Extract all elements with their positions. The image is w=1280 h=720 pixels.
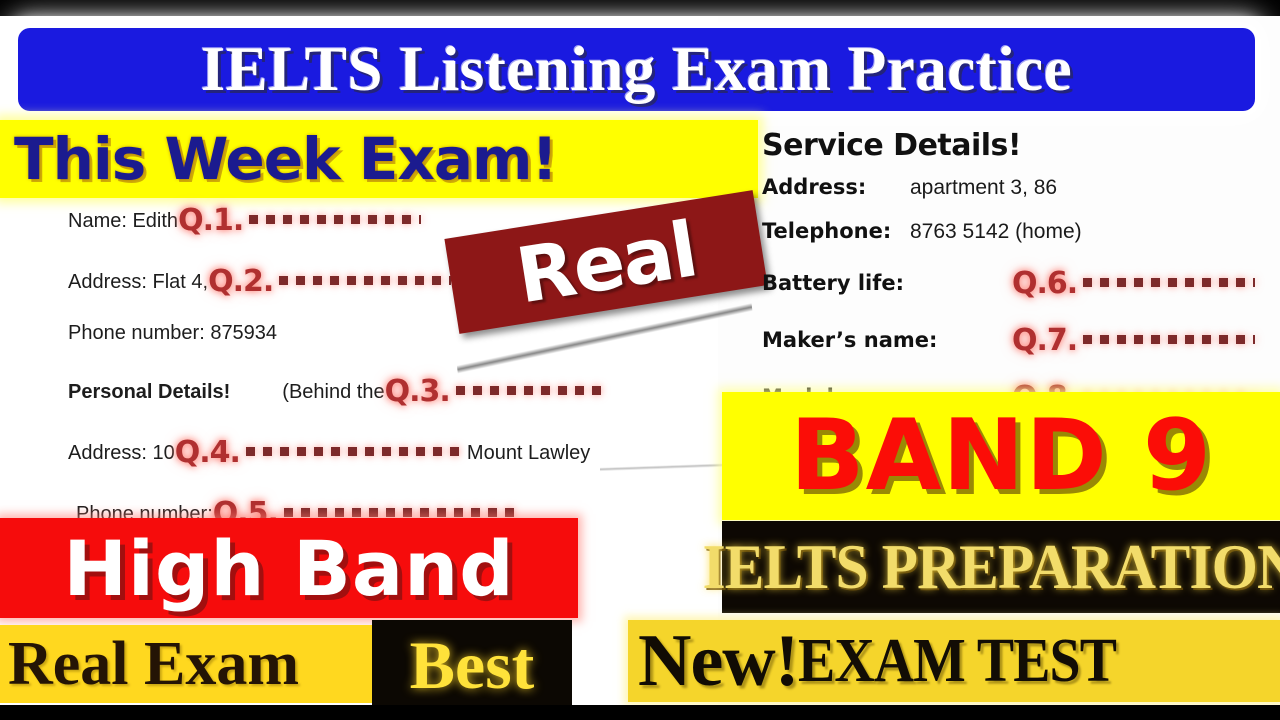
form-label-behind-the: (Behind the bbox=[282, 381, 384, 404]
form-row-phone-1: Phone number: 875934 bbox=[68, 322, 668, 345]
question-tag-q2: Q.2. bbox=[208, 264, 273, 299]
service-row-battery-life: Battery life: Q.6. bbox=[762, 263, 1272, 298]
service-value-address: apartment 3, 86 bbox=[910, 176, 1057, 200]
service-key-telephone: Telephone: bbox=[762, 219, 910, 243]
thumbnail-canvas: IELTS Listening Exam Practice This Week … bbox=[0, 0, 1280, 720]
top-letterbox-strip bbox=[0, 0, 1280, 16]
ielts-preparation-banner: IELTS PREPARATION bbox=[722, 521, 1280, 613]
real-exam-banner: Real Exam bbox=[0, 625, 372, 703]
form-row-personal-details: Personal Details! (Behind the Q.3. bbox=[68, 371, 668, 406]
answer-dotted-line-q5 bbox=[284, 508, 516, 517]
answer-dotted-line-q1 bbox=[249, 215, 421, 224]
service-key-address: Address: bbox=[762, 175, 910, 199]
real-exam-label: Real Exam bbox=[0, 629, 299, 700]
service-key-makers-name: Maker’s name: bbox=[762, 328, 1012, 352]
form-heading-personal-details: Personal Details! bbox=[68, 381, 230, 404]
service-key-battery-life: Battery life: bbox=[762, 271, 1012, 295]
form-label-phone-1: Phone number: 875934 bbox=[68, 322, 277, 345]
service-row-makers-name: Maker’s name: Q.7. bbox=[762, 320, 1272, 355]
answer-dotted-line-q4 bbox=[246, 447, 461, 456]
answer-dotted-line-q7 bbox=[1083, 335, 1255, 344]
page-title: IELTS Listening Exam Practice bbox=[201, 33, 1072, 106]
service-row-address: Address: apartment 3, 86 bbox=[762, 175, 1272, 200]
service-value-telephone: 8763 5142 (home) bbox=[910, 220, 1082, 244]
form-label-name: Name: Edith bbox=[68, 210, 178, 233]
best-label: Best bbox=[410, 626, 535, 705]
new-exam-test-banner: New! EXAM TEST bbox=[628, 620, 1280, 702]
question-tag-q4: Q.4. bbox=[175, 435, 240, 470]
right-form-block: Service Details! Address: apartment 3, 8… bbox=[762, 128, 1272, 431]
new-label: New! bbox=[628, 619, 798, 704]
answer-dotted-line-q6 bbox=[1083, 278, 1255, 287]
form-label-mount-lawley: Mount Lawley bbox=[467, 442, 590, 465]
service-row-telephone: Telephone: 8763 5142 (home) bbox=[762, 219, 1272, 244]
this-week-exam-label: This Week Exam! bbox=[0, 125, 557, 193]
form-label-address-1: Address: Flat 4, bbox=[68, 271, 208, 294]
question-tag-q7: Q.7. bbox=[1012, 323, 1077, 358]
title-banner: IELTS Listening Exam Practice bbox=[18, 28, 1255, 111]
ielts-preparation-label: IELTS PREPARATION bbox=[703, 530, 1280, 604]
form-label-address-2: Address: 10 bbox=[68, 442, 175, 465]
form-row-address-2: Address: 10 Q.4. Mount Lawley bbox=[68, 432, 668, 467]
service-details-heading: Service Details! bbox=[762, 128, 1021, 163]
answer-dotted-line-q3 bbox=[456, 386, 606, 395]
high-band-label: High Band bbox=[63, 524, 514, 613]
service-details-heading-row: Service Details! bbox=[762, 128, 1272, 163]
high-band-banner: High Band bbox=[0, 518, 578, 618]
best-banner: Best bbox=[372, 620, 572, 710]
question-tag-q6: Q.6. bbox=[1012, 266, 1077, 301]
answer-dotted-line-q2 bbox=[279, 276, 451, 285]
question-tag-q3: Q.3. bbox=[385, 374, 450, 409]
question-tag-q1: Q.1. bbox=[178, 203, 243, 238]
bottom-letterbox-strip bbox=[0, 705, 1280, 720]
band-9-label: BAND 9 bbox=[790, 399, 1212, 513]
this-week-exam-banner: This Week Exam! bbox=[0, 120, 758, 198]
band-9-banner: BAND 9 bbox=[722, 392, 1280, 520]
exam-test-label: EXAM TEST bbox=[798, 626, 1116, 697]
